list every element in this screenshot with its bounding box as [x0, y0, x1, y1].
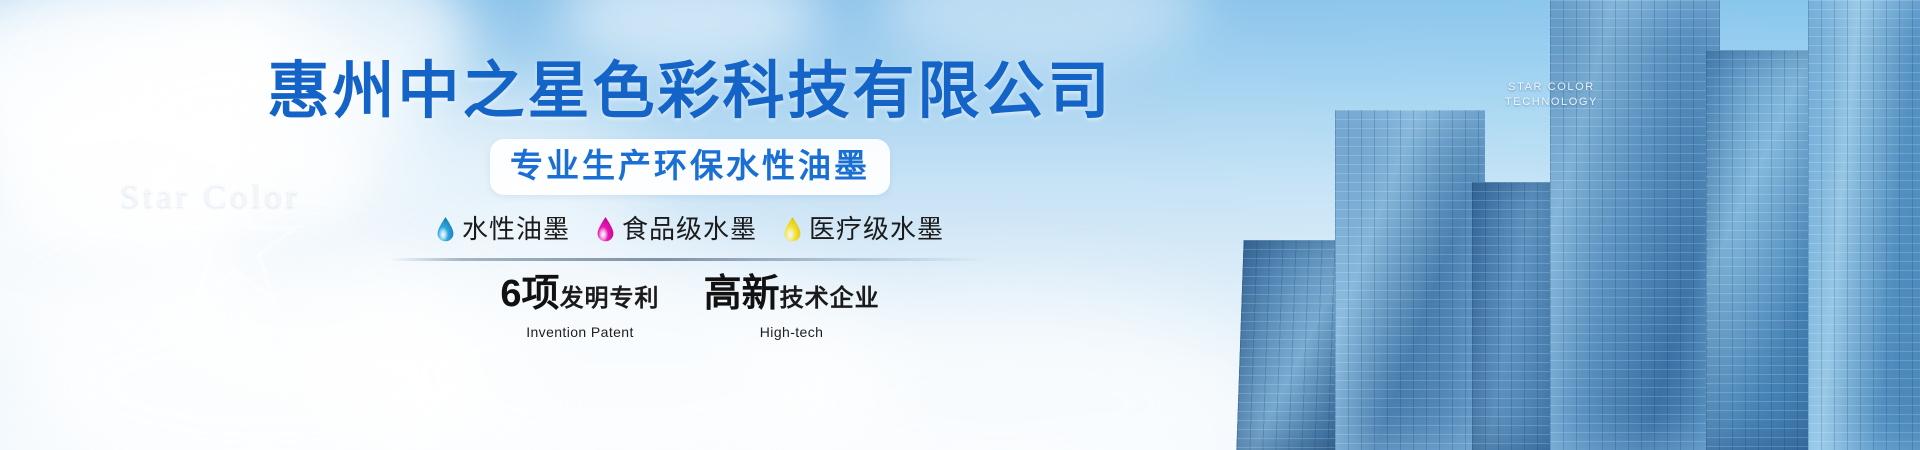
credential-main: 6项 发明专利 [500, 273, 659, 320]
corner-brand-line-2: TECHNOLOGY [1505, 95, 1598, 110]
corner-brand: STAR COLOR TECHNOLOGY [1505, 80, 1598, 110]
credential-label: 技术企业 [780, 278, 880, 320]
subtitle-text: 专业生产环保水性油墨 [510, 147, 870, 184]
subtitle-pill: 专业生产环保水性油墨 [490, 139, 890, 195]
credential-list: 6项 发明专利 Invention Patent 高新 技术企业 High-te… [500, 273, 879, 341]
water-drop-icon [436, 216, 455, 242]
list-item-label: 水性油墨 [462, 214, 570, 244]
list-item-label: 医疗级水墨 [809, 214, 944, 244]
water-drop-icon [783, 216, 802, 242]
credential-highlight: 高新 [704, 273, 780, 315]
ink-feature-list: 水性油墨 食品级水墨 [436, 214, 944, 244]
credential-label: 发明专利 [560, 278, 660, 320]
credential-english: High-tech [760, 323, 824, 341]
credential-english: Invention Patent [526, 323, 634, 341]
corner-brand-line-1: STAR COLOR [1505, 80, 1598, 95]
banner-content: 惠州中之星色彩科技有限公司 专业生产环保水性油墨 水性油墨 [0, 0, 1380, 450]
list-item: 高新 技术企业 High-tech [704, 273, 880, 341]
water-drop-icon [596, 216, 615, 242]
section-divider [390, 258, 990, 261]
credential-main: 高新 技术企业 [704, 273, 880, 320]
list-item: 水性油墨 [436, 214, 570, 244]
company-title: 惠州中之星色彩科技有限公司 [267, 57, 1112, 127]
credential-highlight: 6项 [500, 273, 559, 315]
promo-banner: Star Color STAR COLOR TECHNOLOGY 惠州中之星色彩… [0, 0, 1920, 450]
list-item-label: 食品级水墨 [622, 214, 757, 244]
list-item: 食品级水墨 [596, 214, 757, 244]
list-item: 6项 发明专利 Invention Patent [500, 273, 659, 341]
list-item: 医疗级水墨 [783, 214, 944, 244]
